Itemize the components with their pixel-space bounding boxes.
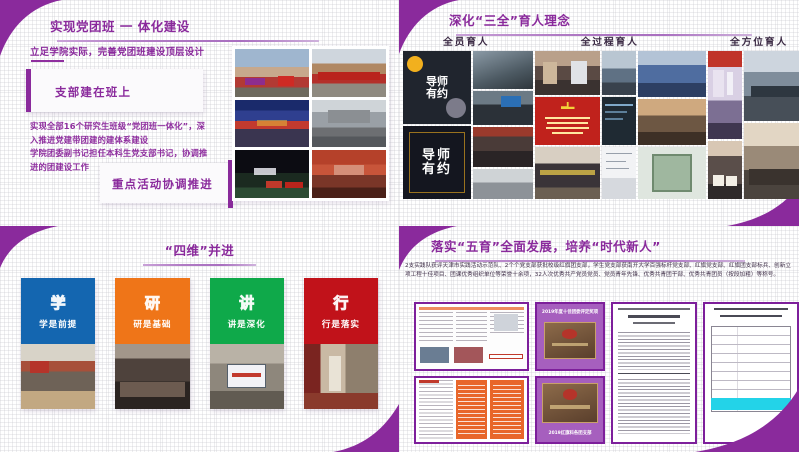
poster-line-1: 导师 [422, 149, 452, 163]
collage-column-2 [473, 51, 533, 199]
card-label-learn: 学是前提 [39, 318, 77, 330]
body-paragraph: 2支实践队获评天津市实践活动示范队、2个个党支部获批校级红旗团支部，学生党支部获… [405, 262, 791, 279]
title-underline [143, 264, 256, 266]
photo-seminar-room-discussion [473, 51, 533, 89]
poster-line-2: 有约 [426, 88, 448, 100]
photo-grid-top-left [232, 46, 389, 201]
photo-campus-hall-group [235, 49, 309, 97]
doc-news-article [414, 302, 529, 371]
doc-honor-roll-table [703, 302, 799, 444]
poster-line-1: 导师 [426, 76, 448, 88]
photo-monument-group [312, 100, 386, 148]
dimension-card-lecture[interactable]: 讲 讲是深化 [210, 278, 284, 409]
panel-bottom-right: 落实“五育”全面发展，培养“时代新人” 2支实践队获评天津市实践活动示范队、2个… [399, 226, 799, 452]
photo-theater-performance [235, 150, 309, 198]
photo-certificate-portrait [638, 147, 706, 199]
highlight-card-branch-label: 支部建在班上 [55, 84, 131, 100]
doc-award-plaque-1: 2019年度十佳团委评定奖项 [535, 302, 605, 371]
collage-column-3 [535, 51, 600, 199]
slide-canvas: 实现党团班 一 体化建设 立足学院实际，完善党团班建设顶层设计 支部建在班上 实… [0, 0, 799, 452]
photo-mentor-poster-light: 导师 有约 [403, 51, 471, 124]
doc-official-notice [611, 302, 697, 444]
photo-classroom-group [21, 344, 95, 409]
learn-glyph-icon: 学 [45, 292, 71, 314]
doc-orange-notice-pages [414, 376, 529, 445]
card-top-lecture: 讲 讲是深化 [210, 278, 284, 344]
panel-title: 落实“五育”全面发展，培养“时代新人” [431, 236, 799, 255]
photo-blue-uniform-group [638, 51, 706, 97]
collage-column-7 [744, 51, 799, 199]
subheading-whole-process: 全过程育人 [581, 34, 639, 48]
practice-glyph-icon: 行 [328, 292, 354, 314]
four-dimension-cards: 学 学是前提 研 研是基础 讲 讲是深化 [21, 278, 378, 409]
photo-student-interview-panel [602, 147, 636, 199]
card-top-research: 研 研是基础 [115, 278, 189, 344]
doc-award-plaque-2: 2019红旗科各团支部 [535, 376, 605, 445]
photo-auditorium-stage [235, 100, 309, 148]
photo-red-stage-group [312, 150, 386, 198]
dimension-card-research[interactable]: 研 研是基础 [115, 278, 189, 409]
panel-title: “四维”并进 [0, 240, 399, 259]
lead-underline [31, 60, 64, 62]
subheading-all-round: 全方位育人 [730, 34, 788, 48]
photo-collage-top-right: 导师 有约 导师 有约 [403, 51, 797, 199]
panel-heading: 落实“五育”全面发展，培养“时代新人” [399, 226, 799, 262]
photo-sports-team-lineup [602, 51, 636, 95]
panel-title: 深化“三全”育人理念 [449, 10, 799, 29]
photo-conference-room-attendees [744, 123, 799, 199]
collage-column-4 [602, 51, 636, 199]
collage-column-6 [708, 51, 742, 199]
photo-red-banner-outdoor [312, 49, 386, 97]
card-label-research: 研是基础 [133, 318, 171, 330]
doc-caption-award-1: 2019年度十佳团委评定奖项 [542, 309, 598, 315]
photo-dark-slide-screen [602, 97, 636, 145]
photo-corridor-exhibit [304, 344, 378, 409]
card-label-lecture: 讲是深化 [228, 318, 266, 330]
lead-text: 立足学院实际，完善党团班建设顶层设计 [30, 44, 204, 58]
panel-top-left: 实现党团班 一 体化建设 立足学院实际，完善党团班建设顶层设计 支部建在班上 实… [0, 0, 399, 226]
doc-caption-award-2: 2019红旗科各团支部 [549, 431, 592, 436]
panel-top-right: 深化“三全”育人理念 全员育人 全过程育人 全方位育人 导师 有约 [399, 0, 799, 226]
photo-classroom-projector [473, 91, 533, 125]
subheading-all-staff: 全员育人 [443, 34, 489, 48]
dimension-card-learn[interactable]: 学 学是前提 [21, 278, 95, 409]
photo-tv-studio-stage [708, 51, 742, 139]
photo-seminar-table [115, 344, 189, 409]
lecture-glyph-icon: 讲 [234, 292, 260, 314]
photo-meeting-room-wide [473, 169, 533, 199]
photo-lecture-screen [210, 344, 284, 409]
card-label-practice: 行是落实 [322, 318, 360, 330]
card-top-learn: 学 学是前提 [21, 278, 95, 344]
panel-heading: “四维”并进 [0, 226, 399, 266]
card-top-practice: 行 行是落实 [304, 278, 378, 344]
photo-lecture-hall-audience [473, 127, 533, 167]
photo-two-speakers-desk [535, 51, 600, 95]
photo-mentor-poster-dark: 导师 有约 [403, 126, 471, 199]
panel-bottom-left: “四维”并进 学 学是前提 研 研是基础 [0, 226, 399, 452]
document-grid: 2019年度十佳团委评定奖项 [414, 302, 791, 444]
photo-document-review-pair [708, 141, 742, 199]
photo-classroom-seminar-rows [744, 51, 799, 121]
corner-wedge-bottom-right [333, 404, 399, 452]
research-glyph-icon: 研 [139, 292, 165, 314]
subheading-row: 全员育人 全过程育人 全方位育人 [443, 34, 788, 48]
collage-column-5 [638, 51, 706, 199]
photo-award-ceremony-lineup [535, 147, 600, 199]
poster-line-2: 有约 [422, 163, 452, 177]
photo-party-emblem-red-poster [535, 97, 600, 145]
dimension-card-practice[interactable]: 行 行是落实 [304, 278, 378, 409]
highlight-card-activities-label: 重点活动协调推进 [112, 176, 213, 192]
panel-heading: 深化“三全”育人理念 [399, 0, 799, 36]
collage-column-posters: 导师 有约 导师 有约 [403, 51, 471, 199]
photo-round-table-meeting [638, 99, 706, 145]
